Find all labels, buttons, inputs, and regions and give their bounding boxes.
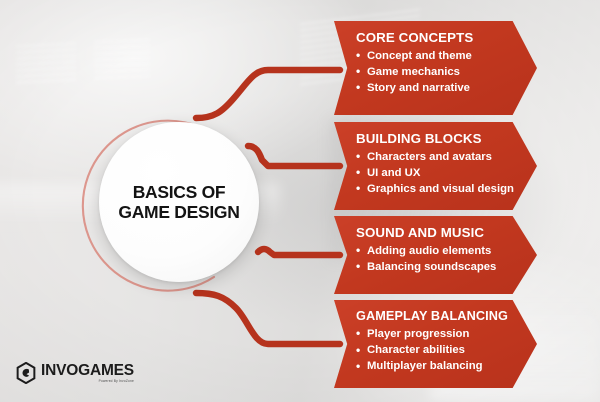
invogames-hex-icon: [15, 362, 37, 384]
topic-block-sound-and-music[interactable]: SOUND AND MUSIC Adding audio elements Ba…: [334, 216, 537, 294]
connector-building-blocks: [248, 146, 340, 166]
topic-block-title: SOUND AND MUSIC: [356, 225, 509, 241]
logo-wordmark: INVOGAMES: [41, 363, 134, 379]
connector-gameplay-balancing: [196, 293, 340, 344]
topic-block-title: CORE CONCEPTS: [356, 30, 509, 46]
list-item: Character abilities: [356, 342, 509, 358]
topic-block-title: BUILDING BLOCKS: [356, 131, 509, 147]
logo-text-group: INVOGAMES Powered By InvoZone: [41, 363, 134, 383]
connector-core-concepts: [196, 70, 340, 118]
list-item: Graphics and visual design: [356, 181, 509, 197]
list-item: UI and UX: [356, 165, 509, 181]
connector-sound-and-music: [258, 249, 340, 255]
list-item: Story and narrative: [356, 80, 509, 96]
list-item: Concept and theme: [356, 48, 509, 64]
list-item: Multiplayer balancing: [356, 358, 509, 374]
center-hub-title: BASICS OF GAME DESIGN: [118, 182, 239, 223]
list-item: Game mechanics: [356, 64, 509, 80]
list-item: Adding audio elements: [356, 243, 509, 259]
topic-block-core-concepts[interactable]: CORE CONCEPTS Concept and theme Game mec…: [334, 21, 537, 115]
topic-block-list: Concept and theme Game mechanics Story a…: [356, 48, 509, 96]
list-item: Characters and avatars: [356, 149, 509, 165]
topic-block-title: GAMEPLAY BALANCING: [356, 309, 509, 324]
topic-block-gameplay-balancing[interactable]: GAMEPLAY BALANCING Player progression Ch…: [334, 300, 537, 388]
topic-block-list: Characters and avatars UI and UX Graphic…: [356, 149, 509, 197]
center-hub: BASICS OF GAME DESIGN: [99, 122, 259, 282]
list-item: Player progression: [356, 326, 509, 342]
topic-block-list: Adding audio elements Balancing soundsca…: [356, 243, 509, 275]
list-item: Balancing soundscapes: [356, 259, 509, 275]
infographic-canvas: BASICS OF GAME DESIGN CORE CONCEPTS Conc…: [0, 0, 600, 402]
logo-tagline: Powered By InvoZone: [46, 380, 134, 383]
topic-block-building-blocks[interactable]: BUILDING BLOCKS Characters and avatars U…: [334, 122, 537, 210]
topic-block-list: Player progression Character abilities M…: [356, 326, 509, 374]
brand-logo: INVOGAMES Powered By InvoZone: [15, 362, 134, 384]
